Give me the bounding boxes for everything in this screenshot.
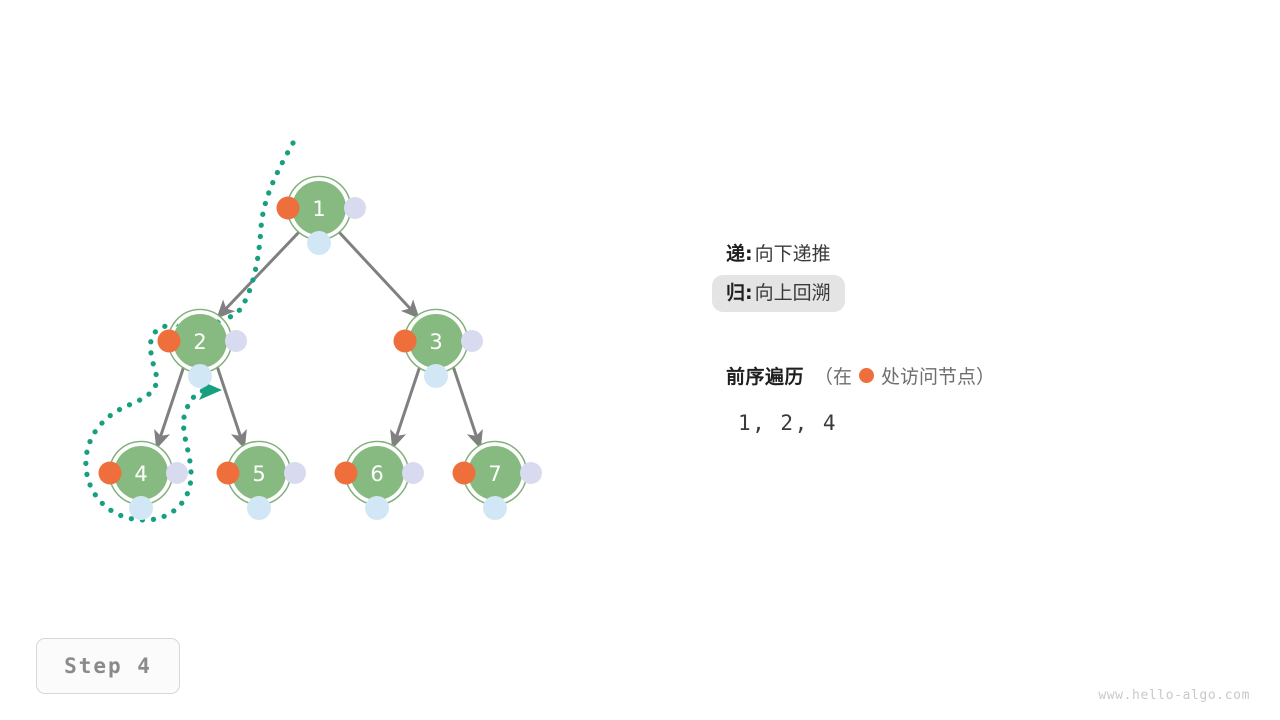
node-visit-dot-icon [277,197,300,220]
illustration-canvas: 1 2 3 4 [0,0,1280,720]
node-visit-dot-icon [453,462,476,485]
edge-1-2 [218,231,300,317]
node-label: 6 [370,462,383,486]
node-right-dot-icon [402,462,424,484]
step-badge: Step 4 [36,638,180,694]
node-bottom-dot-icon [483,496,507,520]
legend-panel: 递: 向下递推 归: 向上回溯 [726,236,1246,312]
edge-1-3 [338,231,418,317]
node-bottom-dot-icon [365,496,389,520]
legend-value-return: 向上回溯 [755,284,831,303]
legend-row-return: 归: 向上回溯 [712,275,845,312]
node-right-dot-icon [520,462,542,484]
edge-3-7 [453,366,480,447]
edge-2-5 [217,366,244,447]
node-right-dot-icon [166,462,188,484]
node-bottom-dot-icon [129,496,153,520]
node-label: 7 [488,462,501,486]
node-bottom-dot-icon [188,364,212,388]
node-bottom-dot-icon [307,231,331,255]
tree-node-7[interactable]: 7 [453,442,543,521]
tree-node-6[interactable]: 6 [335,442,425,521]
node-visit-dot-icon [335,462,358,485]
traversal-paren-open: （在 [814,362,852,389]
node-bottom-dot-icon [247,496,271,520]
node-visit-dot-icon [394,330,417,353]
node-label: 5 [252,462,265,486]
node-label: 2 [193,330,206,354]
legend-row-recurse: 递: 向下递推 [712,236,1246,273]
node-visit-dot-icon [217,462,240,485]
traversal-block: 前序遍历 （在 处访问节点） 1, 2, 4 [726,362,995,435]
node-right-dot-icon [284,462,306,484]
node-visit-dot-icon [99,462,122,485]
traversal-title-row: 前序遍历 （在 处访问节点） [726,362,995,389]
legend-key-recurse: 递: [726,245,753,264]
node-label: 1 [312,197,325,221]
node-bottom-dot-icon [424,364,448,388]
traversal-sequence: 1, 2, 4 [726,411,995,435]
node-label: 4 [134,462,147,486]
legend-value-recurse: 向下递推 [755,245,831,264]
traversal-paren-close: 处访问节点） [881,362,995,389]
visit-marker-dot-icon [859,368,874,383]
node-right-dot-icon [225,330,247,352]
node-right-dot-icon [461,330,483,352]
tree-node-2[interactable]: 2 [158,310,248,389]
step-badge-label: Step 4 [64,654,152,678]
edge-2-4 [157,366,184,447]
tree-node-5[interactable]: 5 [217,442,307,521]
tree-node-3[interactable]: 3 [394,310,484,389]
node-visit-dot-icon [158,330,181,353]
traversal-title: 前序遍历 [726,362,804,389]
legend-key-return: 归: [726,284,753,303]
binary-tree-diagram: 1 2 3 4 [0,0,1280,720]
edge-3-6 [393,366,420,447]
node-right-dot-icon [344,197,366,219]
node-label: 3 [429,330,442,354]
footer-url: www.hello-algo.com [1098,688,1250,703]
